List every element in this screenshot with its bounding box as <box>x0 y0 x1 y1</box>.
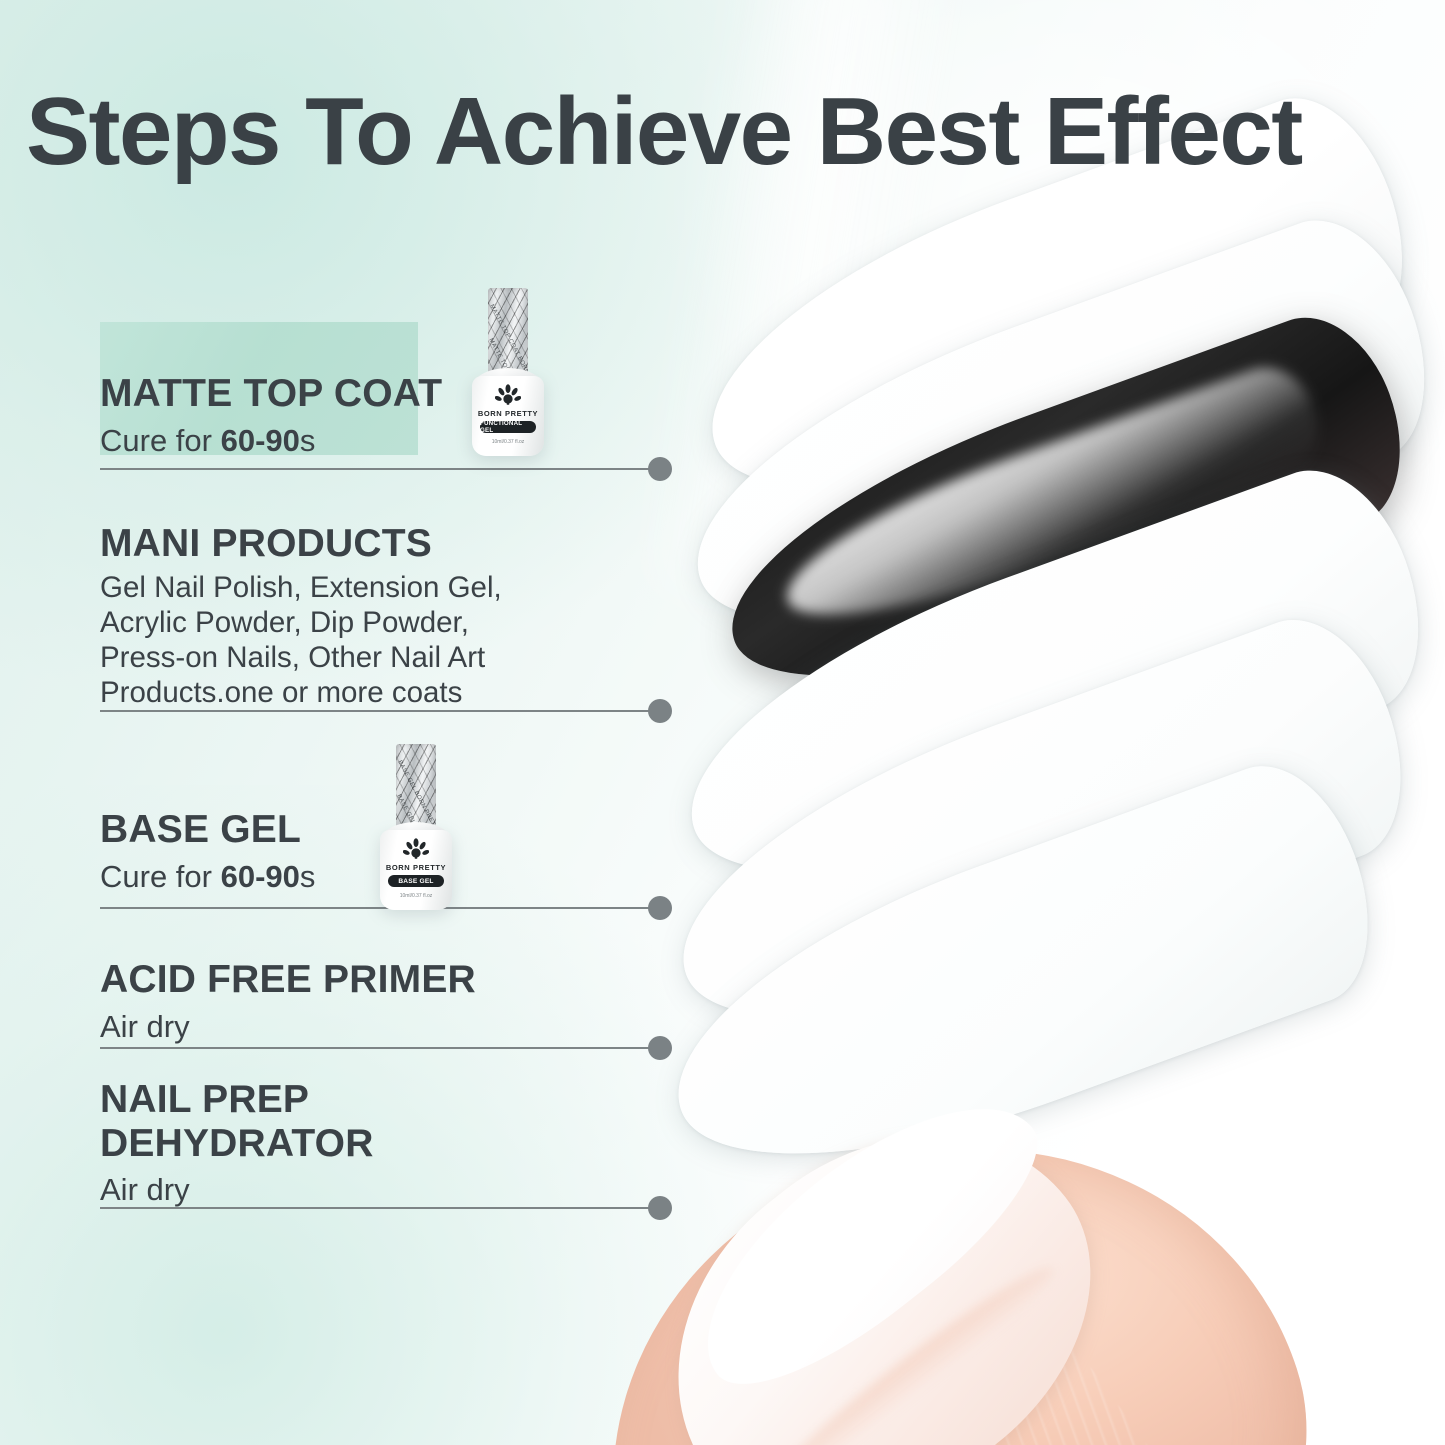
step-subtext: Cure for 60-90s <box>100 422 660 459</box>
connector-line <box>100 710 656 712</box>
connector-line <box>100 468 656 470</box>
connector-dot <box>648 457 672 481</box>
bottle-cap-text: BASE GEL BORN PRETTY BASE GEL BORN PRETT… <box>396 744 436 834</box>
bottle-brand-text: BORN PRETTY <box>472 409 544 418</box>
connector-dot <box>648 1036 672 1060</box>
bottle-matte-top-coat: MATTE TOP COAT BORN PRETTY MATTE TOP COA… <box>462 288 554 458</box>
bottle-product-label: BASE GEL <box>388 875 444 887</box>
step-heading: NAIL PREP DEHYDRATOR <box>100 1078 660 1165</box>
step-subtext-suffix: s <box>300 423 316 458</box>
connector-dot <box>648 699 672 723</box>
bottle-cap: MATTE TOP COAT BORN PRETTY MATTE TOP COA… <box>488 288 528 380</box>
bottle-volume-text: 10ml/0.37 fl.oz <box>380 893 452 899</box>
connector-nail-prep-dehydrator <box>100 1196 672 1220</box>
step-heading: ACID FREE PRIMER <box>100 958 660 1002</box>
step-subtext-prefix: Cure for <box>100 859 221 894</box>
bottle-body: BORN PRETTY BASE GEL 10ml/0.37 fl.oz <box>380 830 452 910</box>
infographic-poster: Steps To Achieve Best Effect MATTE TOP C… <box>0 0 1445 1445</box>
connector-line <box>100 1207 656 1209</box>
step-matte-top-coat[interactable]: MATTE TOP COAT Cure for 60-90s <box>100 372 660 459</box>
connector-dot <box>648 1196 672 1220</box>
connector-mani-products <box>100 699 672 723</box>
born-pretty-flower-logo <box>403 838 429 865</box>
step-heading: MATTE TOP COAT <box>100 372 660 416</box>
step-heading: MANI PRODUCTS <box>100 522 660 566</box>
connector-line <box>100 1047 656 1049</box>
connector-acid-free-primer <box>100 1036 672 1060</box>
bottle-body: BORN PRETTY FUNCTIONAL GEL 10ml/0.37 fl.… <box>472 376 544 456</box>
step-acid-free-primer[interactable]: ACID FREE PRIMER Air dry <box>100 958 660 1045</box>
bottle-cap-text: MATTE TOP COAT BORN PRETTY MATTE TOP COA… <box>488 288 528 380</box>
step-body-text: Gel Nail Polish, Extension Gel, Acrylic … <box>100 570 660 710</box>
connector-matte-top-coat <box>100 457 672 481</box>
born-pretty-flower-logo <box>495 384 521 411</box>
step-subtext-bold: 60-90 <box>221 859 300 894</box>
bottle-cap: BASE GEL BORN PRETTY BASE GEL BORN PRETT… <box>396 744 436 834</box>
step-nail-prep-dehydrator[interactable]: NAIL PREP DEHYDRATOR Air dry <box>100 1078 660 1209</box>
bottle-brand-text: BORN PRETTY <box>380 863 452 872</box>
connector-dot <box>648 896 672 920</box>
bottle-product-label: FUNCTIONAL GEL <box>480 421 536 433</box>
steps-list: MATTE TOP COAT Cure for 60-90s MANI PROD… <box>0 0 700 1445</box>
step-subtext-bold: 60-90 <box>221 423 300 458</box>
step-mani-products[interactable]: MANI PRODUCTS Gel Nail Polish, Extension… <box>100 522 660 710</box>
step-subtext-suffix: s <box>300 859 316 894</box>
step-subtext-prefix: Cure for <box>100 423 221 458</box>
bottle-base-gel: BASE GEL BORN PRETTY BASE GEL BORN PRETT… <box>370 744 462 912</box>
bottle-volume-text: 10ml/0.37 fl.oz <box>472 439 544 445</box>
